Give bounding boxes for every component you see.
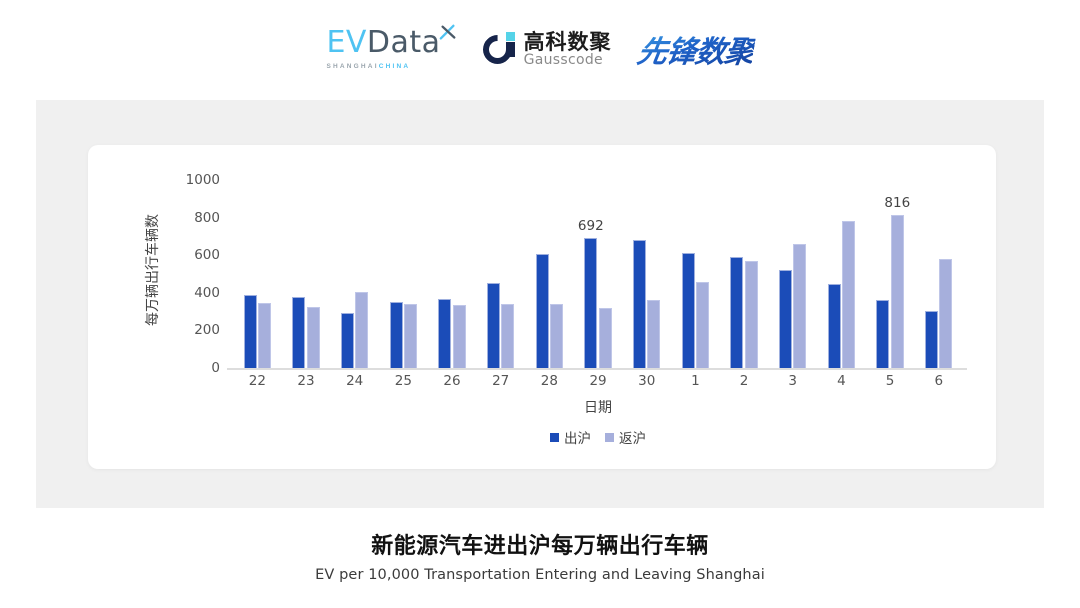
gauss-square-light-shape [506,32,515,41]
xianfeng-wordmark: 先锋数聚 [634,27,757,71]
x-axis-tick-label: 29 [574,373,623,395]
bar-back[interactable] [745,261,758,368]
legend-item[interactable]: 出沪 [550,427,591,447]
bar-back[interactable] [355,292,368,368]
x-axis-title: 日期 [233,397,963,417]
bar-group [282,180,331,368]
bar-back[interactable] [550,304,563,368]
bar-out[interactable] [341,313,354,368]
y-axis-ticks: 02004006008001000 [148,180,226,368]
bar-group [476,180,525,368]
bar-out[interactable] [244,295,257,368]
y-axis-tick-label: 1000 [186,172,220,188]
bar-out[interactable] [292,297,305,368]
bar-back[interactable] [696,282,709,368]
bar-out[interactable] [438,299,451,368]
x-axis-tick-label: 22 [233,373,282,395]
bar-out[interactable]: 692 [584,238,597,368]
x-spark-icon [439,24,457,42]
bar-back[interactable]: 816 [891,215,904,368]
bar-group [914,180,963,368]
x-axis-tick-label: 24 [330,373,379,395]
y-axis-tick-label: 200 [194,322,220,338]
bar-back[interactable] [501,304,514,368]
legend-swatch-icon [550,433,559,442]
evdata-tagline-shanghai: SHANGHAI [326,63,378,70]
bar-group [768,180,817,368]
logo-bar: EVData SHANGHAICHINA 高科数聚 Gausscode 先锋数聚 [0,18,1080,80]
evdata-data-text: Data [367,25,441,60]
gauss-square-dark-shape [506,42,515,57]
bar-value-label: 816 [884,195,910,211]
x-axis-tick-label: 27 [476,373,525,395]
bar-group [233,180,282,368]
evdata-tagline-china: CHINA [379,63,411,70]
gauss-c-mark-icon [483,32,517,66]
bar-out[interactable] [633,240,646,368]
bar-back[interactable] [647,300,660,368]
evdata-ev-text: EV [326,25,366,60]
x-axis-tick-label: 5 [866,373,915,395]
bar-group: 692 [574,180,623,368]
bar-back[interactable] [258,303,271,368]
chart-card: 每万辆出行车辆数 02004006008001000 692816 222324… [88,145,996,469]
x-axis-tick-label: 3 [768,373,817,395]
legend-label: 出沪 [564,427,591,447]
bar-out[interactable] [876,300,889,368]
legend-swatch-icon [605,433,614,442]
logo-evdata: EVData SHANGHAICHINA [326,28,456,70]
chart-area: 每万辆出行车辆数 02004006008001000 692816 222324… [88,145,996,469]
bar-out[interactable] [730,257,743,368]
x-axis-tick-label: 25 [379,373,428,395]
x-axis-tick-label: 23 [282,373,331,395]
x-axis-ticks: 222324252627282930123456 [233,373,963,395]
legend-item[interactable]: 返沪 [605,427,646,447]
bar-out[interactable] [487,283,500,368]
bar-back[interactable] [599,308,612,368]
gausscode-en-name: Gausscode [524,53,603,68]
x-axis-tick-label: 26 [428,373,477,395]
bar-group [817,180,866,368]
bar-out[interactable] [390,302,403,368]
bar-out[interactable] [925,311,938,368]
bar-value-label: 692 [578,218,604,234]
legend-label: 返沪 [619,427,646,447]
bar-group: 816 [866,180,915,368]
x-axis-tick-label: 4 [817,373,866,395]
bar-back[interactable] [453,305,466,368]
caption-subtitle-en: EV per 10,000 Transportation Entering an… [0,567,1080,583]
x-axis-tick-label: 2 [720,373,769,395]
y-axis-tick-label: 400 [194,285,220,301]
chart-legend: 出沪返沪 [233,427,963,447]
bar-group [330,180,379,368]
bar-back[interactable] [793,244,806,368]
bar-back[interactable] [404,304,417,368]
bar-groups: 692816 [233,180,963,368]
plot-area: 692816 [233,180,963,368]
bar-back[interactable] [842,221,855,368]
bar-group [525,180,574,368]
bar-out[interactable] [828,284,841,368]
evdata-tagline: SHANGHAICHINA [326,63,410,70]
bar-group [428,180,477,368]
x-axis-tick-label: 30 [622,373,671,395]
bar-group [671,180,720,368]
caption-title-cn: 新能源汽车进出沪每万辆出行车辆 [0,528,1080,560]
bar-group [720,180,769,368]
gausscode-text: 高科数聚 Gausscode [524,31,612,68]
y-axis-tick-label: 0 [211,360,220,376]
bar-back[interactable] [939,259,952,368]
logo-xianfeng: 先锋数聚 [638,27,754,71]
logo-gausscode: 高科数聚 Gausscode [483,31,612,68]
figure-caption: 新能源汽车进出沪每万辆出行车辆 EV per 10,000 Transporta… [0,528,1080,583]
bar-out[interactable] [682,253,695,368]
bar-out[interactable] [536,254,549,368]
bar-back[interactable] [307,307,320,368]
screenshot-root: EVData SHANGHAICHINA 高科数聚 Gausscode 先锋数聚 [0,0,1080,608]
x-axis-line [227,368,967,370]
x-axis-tick-label: 28 [525,373,574,395]
y-axis-tick-label: 600 [194,247,220,263]
y-axis-tick-label: 800 [194,210,220,226]
bar-out[interactable] [779,270,792,368]
evdata-wordmark: EVData [326,28,440,58]
x-axis-tick-label: 1 [671,373,720,395]
bar-group [622,180,671,368]
bar-group [379,180,428,368]
x-axis-tick-label: 6 [914,373,963,395]
gausscode-cn-name: 高科数聚 [524,31,612,53]
